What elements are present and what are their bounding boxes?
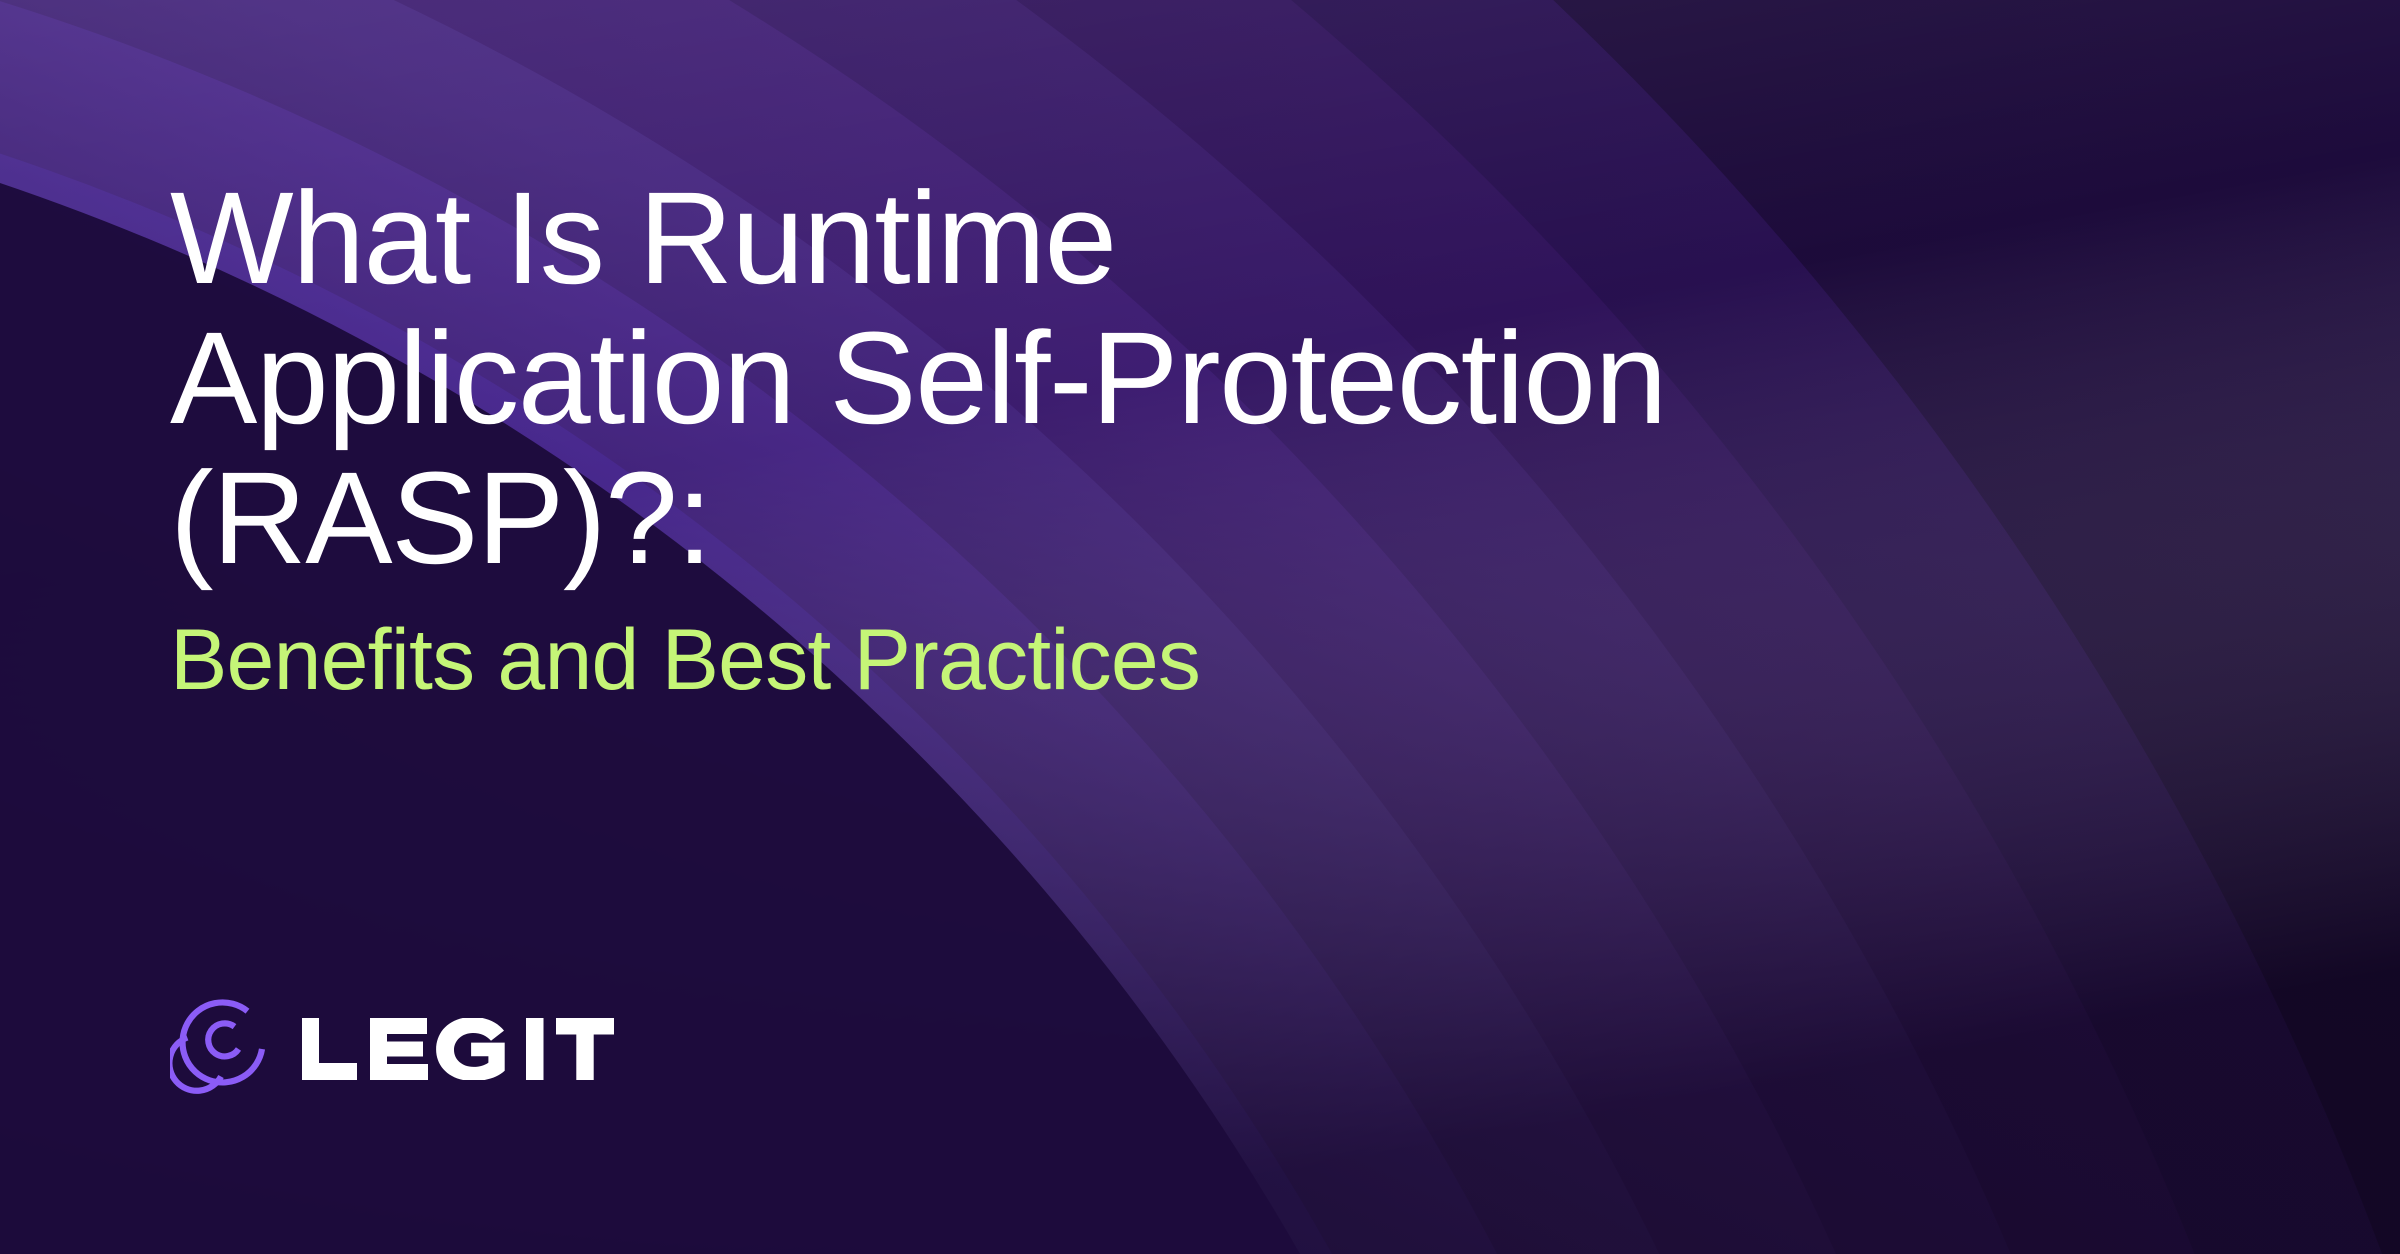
- headline-line-3: (RASP)?:: [170, 448, 2050, 588]
- blog-hero-card: What Is Runtime Application Self-Protect…: [0, 0, 2400, 1254]
- headline-line-2: Application Self-Protection: [170, 308, 2050, 448]
- headline-block: What Is Runtime Application Self-Protect…: [170, 168, 2050, 712]
- legit-logo[interactable]: [170, 997, 614, 1101]
- subtitle: Benefits and Best Practices: [170, 610, 2050, 711]
- legit-arcs-icon: [170, 997, 274, 1101]
- legit-wordmark: [302, 1018, 614, 1080]
- content-column: What Is Runtime Application Self-Protect…: [170, 0, 2070, 1254]
- headline-line-1: What Is Runtime: [170, 168, 2050, 308]
